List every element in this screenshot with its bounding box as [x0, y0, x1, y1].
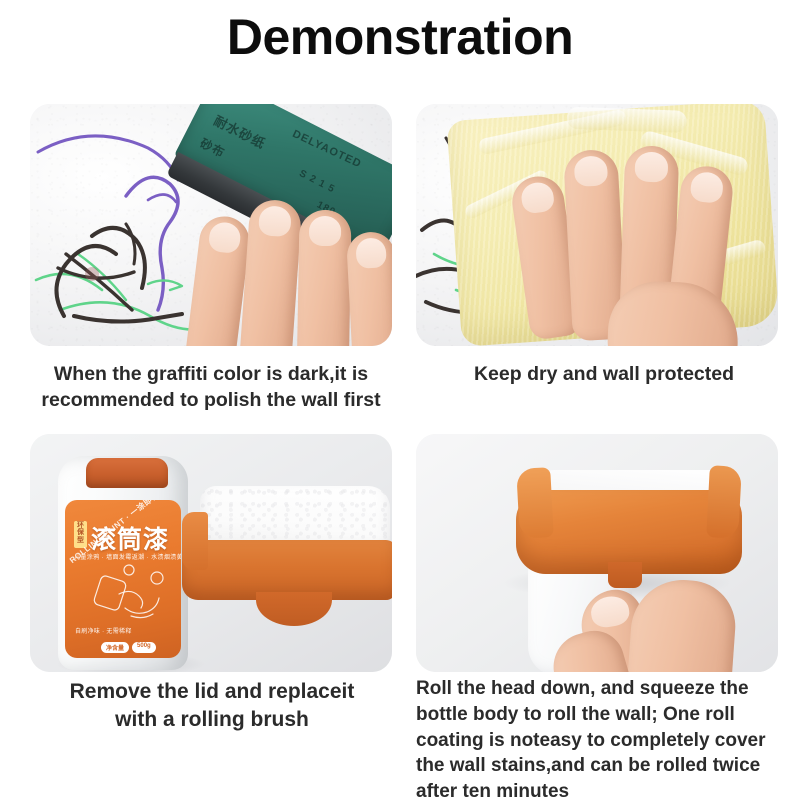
- caption-panel-1: When the graffiti color is dark,it is re…: [22, 362, 400, 414]
- caption-line: When the graffiti color is dark,it is: [22, 362, 400, 388]
- caption-line: Keep dry and wall protected: [414, 362, 794, 388]
- caption-line: with a rolling brush: [24, 706, 400, 734]
- roller-housing-right-ear: [706, 465, 742, 539]
- caption-panel-2: Keep dry and wall protected: [414, 362, 794, 388]
- hand: [520, 132, 750, 346]
- roller-brush-head: [516, 470, 742, 592]
- caption-line: recommended to polish the wall first: [22, 388, 400, 414]
- label-roller-illustration: [73, 564, 175, 626]
- caption-line: coating is noteasy to completely cover: [416, 728, 788, 754]
- label-weight-group: 净含量 500g: [101, 642, 156, 653]
- fingernail: [634, 151, 668, 182]
- fingernail: [258, 205, 292, 237]
- fingernail: [355, 237, 386, 269]
- caption-panel-3: Remove the lid and replaceit with a roll…: [24, 678, 400, 734]
- caption-line: bottle body to roll the wall; One roll: [416, 702, 788, 728]
- fingernail: [520, 180, 556, 214]
- page-title: Demonstration: [0, 10, 800, 65]
- roller-connector: [256, 592, 332, 626]
- label-net-weight: 500g: [132, 642, 156, 653]
- hand: [182, 170, 392, 346]
- roller-housing: [182, 540, 392, 600]
- caption-line: Roll the head down, and squeeze the: [416, 676, 788, 702]
- fingernail: [689, 171, 724, 204]
- roller-housing-lip: [182, 512, 208, 570]
- sanding-block-text-3: 砂布: [197, 134, 228, 161]
- bottle-label: 环保型 滚筒漆 儿童涂鸦 · 墙面发霉返潮 · 水渍烟渍黄斑 · 墙面污渍脱落 …: [65, 500, 181, 658]
- demo-image-polish-wall: DELYAOTED 耐水砂纸 S 2 1 5 砂布 180: [30, 104, 392, 346]
- demo-image-wipe-wall: [416, 104, 778, 346]
- demo-image-roll-wall: [416, 434, 778, 672]
- paint-bottle: 环保型 滚筒漆 儿童涂鸦 · 墙面发霉返潮 · 水渍烟渍黄斑 · 墙面污渍脱落 …: [58, 456, 188, 670]
- label-net-label: 净含量: [101, 642, 129, 653]
- caption-line: after ten minutes: [416, 779, 788, 805]
- demo-image-replace-lid: 环保型 滚筒漆 儿童涂鸦 · 墙面发霉返潮 · 水渍烟渍黄斑 · 墙面污渍脱落 …: [30, 434, 392, 672]
- label-foot-text: 自刷净味 · 无需稀释: [75, 626, 132, 635]
- bottle-cap: [86, 458, 168, 488]
- caption-panel-4: Roll the head down, and squeeze the bott…: [416, 676, 788, 805]
- fingernail: [309, 216, 342, 247]
- caption-line: Remove the lid and replaceit: [24, 678, 400, 706]
- fingernail: [589, 593, 632, 629]
- caption-line: the wall stains,and can be rolled twice: [416, 753, 788, 779]
- fingernail: [208, 221, 242, 255]
- roller-housing-left-ear: [516, 467, 554, 539]
- roller-brush-head: [182, 484, 392, 644]
- hand: [490, 576, 730, 672]
- fingernail: [574, 155, 609, 187]
